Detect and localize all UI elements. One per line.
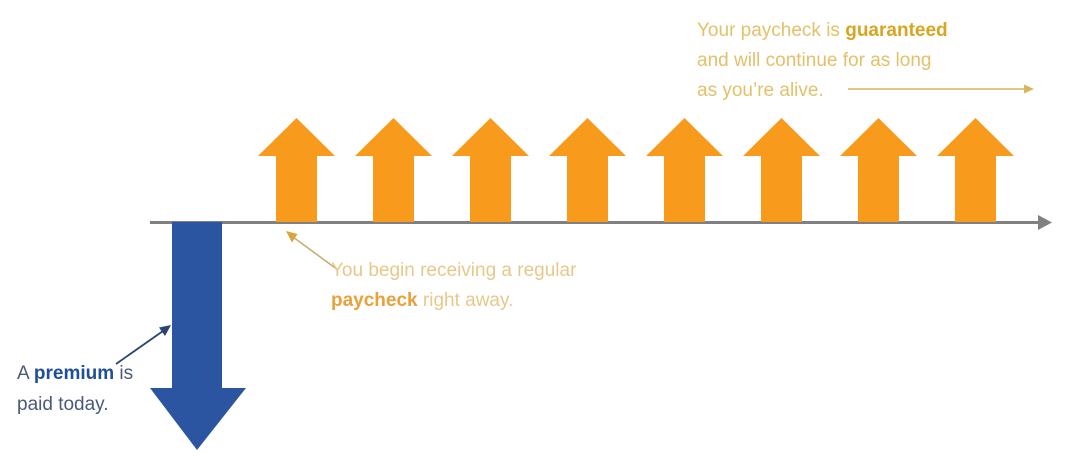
paycheck-up-arrow: [743, 118, 820, 222]
paycheck-callout-line-1: You begin receiving a regular: [331, 256, 576, 286]
text-fragment: right away.: [418, 290, 514, 311]
paycheck-up-arrow: [355, 118, 432, 222]
paycheck-callout-line-2: paycheck right away.: [331, 286, 576, 316]
premium-callout: A premium is paid today.: [17, 358, 133, 420]
text-fragment: is: [114, 363, 133, 384]
paycheck-up-arrows: [258, 118, 1014, 222]
paycheck-up-arrow: [937, 118, 1014, 222]
premium-callout-line-1: A premium is: [17, 358, 133, 389]
premium-callout-line-2: paid today.: [17, 389, 133, 420]
guaranteed-callout-line-1: Your paycheck is guaranteed: [697, 16, 948, 46]
text-fragment: A: [17, 363, 34, 384]
premium-down-arrow: [150, 222, 246, 450]
guaranteed-callout: Your paycheck is guaranteed and will con…: [697, 16, 948, 106]
paycheck-up-arrow: [840, 118, 917, 222]
guaranteed-callout-line-3: as you’re alive.: [697, 76, 948, 106]
paycheck-callout: You begin receiving a regular paycheck r…: [331, 256, 576, 316]
text-emphasis: premium: [34, 363, 114, 384]
paycheck-up-arrow: [452, 118, 529, 222]
guaranteed-callout-line-2: and will continue for as long: [697, 46, 948, 76]
text-fragment: Your paycheck is: [697, 20, 845, 41]
paycheck-up-arrow: [646, 118, 723, 222]
text-emphasis: paycheck: [331, 290, 418, 311]
paycheck-up-arrow: [549, 118, 626, 222]
text-emphasis: guaranteed: [845, 20, 947, 41]
diagram-canvas: Your paycheck is guaranteed and will con…: [0, 0, 1069, 460]
paycheck-up-arrow: [258, 118, 335, 222]
